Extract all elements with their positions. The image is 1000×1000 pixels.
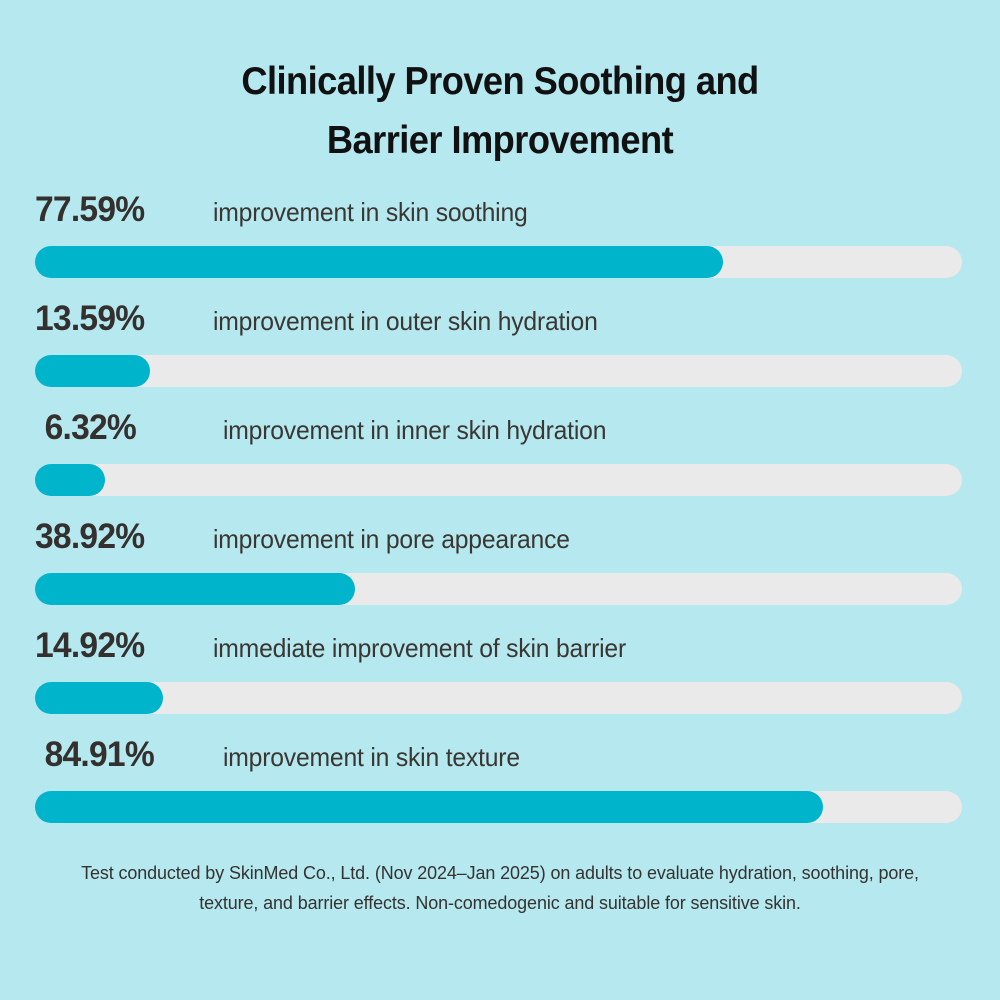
stat-label: immediate improvement of skin barrier	[213, 633, 626, 664]
progress-track	[35, 791, 962, 823]
title-line-1: Clinically Proven Soothing and	[35, 52, 965, 111]
progress-track	[35, 682, 962, 714]
footnote-line-2: texture, and barrier effects. Non-comedo…	[52, 888, 948, 918]
progress-track	[35, 246, 962, 278]
stat-row: 14.92% immediate improvement of skin bar…	[35, 626, 965, 714]
infographic-poster: Clinically Proven Soothing and Barrier I…	[0, 0, 1000, 1000]
stat-row-header: 14.92% immediate improvement of skin bar…	[35, 626, 965, 676]
stat-row: 38.92% improvement in pore appearance	[35, 517, 965, 605]
stat-percent: 38.92%	[35, 517, 206, 557]
stat-percent: 13.59%	[35, 299, 206, 339]
stat-row: 77.59% improvement in skin soothing	[35, 190, 965, 278]
progress-track	[35, 355, 962, 387]
stat-rows: 77.59% improvement in skin soothing 13.5…	[0, 190, 1000, 844]
stat-label: improvement in pore appearance	[213, 524, 570, 555]
stat-row-header: 6.32% improvement in inner skin hydratio…	[35, 408, 965, 458]
stat-label: improvement in skin texture	[223, 742, 520, 773]
stat-row: 6.32% improvement in inner skin hydratio…	[35, 408, 965, 496]
stat-label: improvement in outer skin hydration	[213, 306, 598, 337]
stat-row-header: 84.91% improvement in skin texture	[35, 735, 965, 785]
progress-fill	[35, 464, 105, 496]
progress-fill	[35, 355, 150, 387]
page-title: Clinically Proven Soothing and Barrier I…	[0, 0, 1000, 170]
footnote: Test conducted by SkinMed Co., Ltd. (Nov…	[15, 858, 985, 918]
footnote-line-1: Test conducted by SkinMed Co., Ltd. (Nov…	[52, 858, 948, 888]
stat-percent: 14.92%	[35, 626, 206, 666]
stat-percent: 6.32%	[35, 408, 215, 448]
progress-fill	[35, 573, 355, 605]
progress-fill	[35, 246, 723, 278]
stat-label: improvement in inner skin hydration	[223, 415, 606, 446]
title-line-2: Barrier Improvement	[35, 111, 965, 170]
progress-fill	[35, 791, 823, 823]
stat-row-header: 13.59% improvement in outer skin hydrati…	[35, 299, 965, 349]
stat-percent: 77.59%	[35, 190, 206, 230]
stat-row: 13.59% improvement in outer skin hydrati…	[35, 299, 965, 387]
stat-percent: 84.91%	[35, 735, 215, 775]
progress-fill	[35, 682, 163, 714]
stat-label: improvement in skin soothing	[213, 197, 528, 228]
stat-row-header: 77.59% improvement in skin soothing	[35, 190, 965, 240]
progress-track	[35, 464, 962, 496]
stat-row-header: 38.92% improvement in pore appearance	[35, 517, 965, 567]
stat-row: 84.91% improvement in skin texture	[35, 735, 965, 823]
progress-track	[35, 573, 962, 605]
